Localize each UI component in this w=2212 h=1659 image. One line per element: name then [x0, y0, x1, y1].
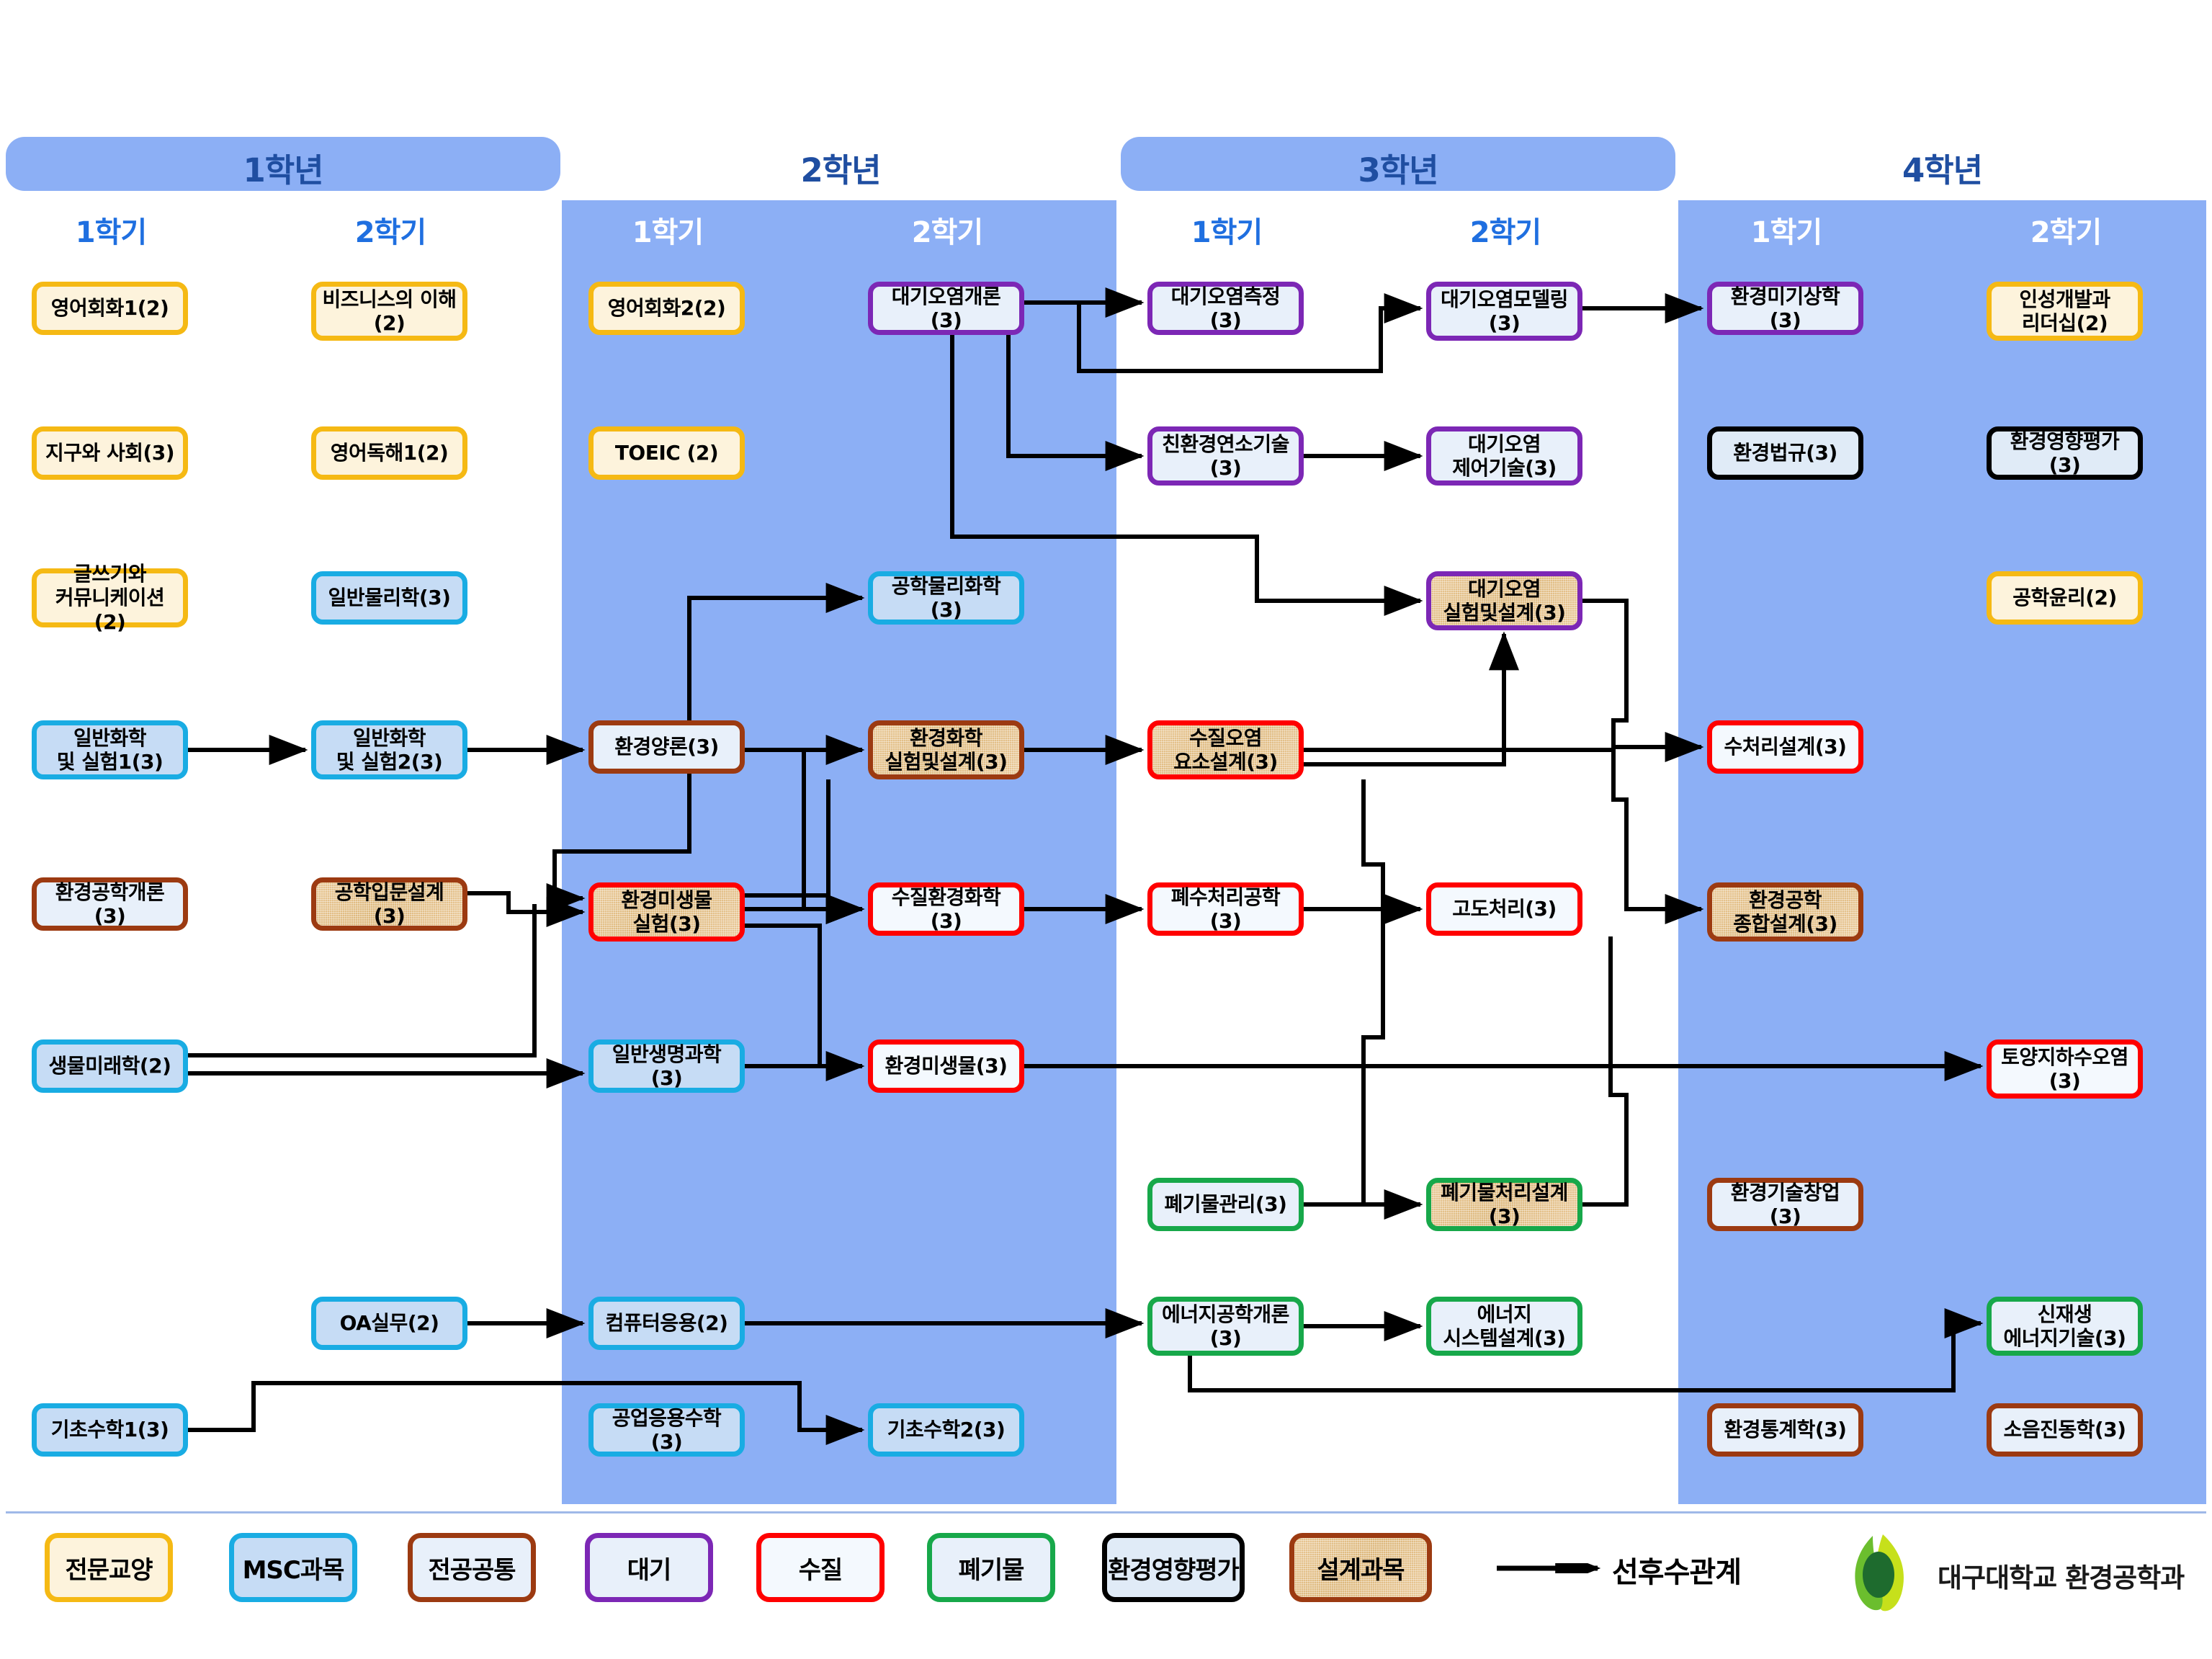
- legend-arrow-label: 선후수관계: [1612, 1549, 1741, 1591]
- course-box-water-pollut-design[interactable]: 수질오염요소설계(3): [1147, 720, 1304, 779]
- course-box-env-capstone-design[interactable]: 환경공학종합설계(3): [1707, 882, 1863, 942]
- course-box-water-treat-design[interactable]: 수처리설계(3): [1707, 720, 1863, 774]
- university-logo-icon: [1838, 1533, 1925, 1612]
- course-box-eng-phys-chem[interactable]: 공학물리화학(3): [868, 571, 1024, 625]
- year-label-3: 3학년: [1121, 144, 1675, 191]
- course-box-env-law[interactable]: 환경법규(3): [1707, 426, 1863, 480]
- course-box-basic-math-1[interactable]: 기초수학1(3): [32, 1403, 188, 1457]
- semester-label-y2s2: 2학기: [868, 209, 1026, 251]
- course-box-env-impact-assess[interactable]: 환경영향평가(3): [1987, 426, 2143, 480]
- course-box-earth-society[interactable]: 지구와 사회(3): [32, 426, 188, 480]
- course-box-soil-groundwater[interactable]: 토양지하수오염(3): [1987, 1039, 2143, 1099]
- course-box-env-chem-lab-design[interactable]: 환경화학실험및설계(3): [868, 720, 1024, 779]
- legend-item-7: 설계과목: [1289, 1533, 1432, 1602]
- legend: 전문교양MSC과목전공공통대기수질폐기물환경영향평가설계과목 선후수관계 대구대…: [0, 1519, 2212, 1655]
- course-box-env-tech-startup[interactable]: 환경기술창업(3): [1707, 1178, 1863, 1231]
- course-box-waste-treat-design[interactable]: 폐기물처리설계(3): [1426, 1178, 1582, 1231]
- semester-label-y4s1: 1학기: [1707, 209, 1866, 251]
- course-box-eng-reading-1[interactable]: 영어독해1(2): [311, 426, 467, 480]
- curriculum-flowchart-page: 1학년 2학년 3학년 4학년 1학기 2학기 1학기 2학기 1학기 2학기 …: [0, 0, 2212, 1659]
- legend-item-0: 전문교양: [45, 1533, 173, 1602]
- course-box-eng-conv-2[interactable]: 영어회화2(2): [588, 282, 745, 335]
- year-label-4: 4학년: [1678, 144, 2206, 191]
- year-label-1: 1학년: [6, 144, 560, 191]
- semester-label-y1s1: 1학기: [32, 209, 190, 251]
- course-box-eng-intro-design[interactable]: 공학입문설계(3): [311, 877, 467, 931]
- course-box-air-pollution-meas[interactable]: 대기오염측정(3): [1147, 282, 1304, 335]
- course-box-waste-management[interactable]: 폐기물관리(3): [1147, 1178, 1304, 1231]
- course-box-eng-ethics[interactable]: 공학윤리(2): [1987, 571, 2143, 625]
- course-box-air-pollut-control[interactable]: 대기오염제어기술(3): [1426, 426, 1582, 486]
- course-box-renewable-energy[interactable]: 신재생에너지기술(3): [1987, 1297, 2143, 1356]
- course-box-toeic[interactable]: TOEIC (2): [588, 426, 745, 480]
- legend-item-1: MSC과목: [229, 1533, 357, 1602]
- legend-item-4: 수질: [756, 1533, 885, 1602]
- course-box-eng-conv-1[interactable]: 영어회화1(2): [32, 282, 188, 335]
- course-box-air-pollution-intro[interactable]: 대기오염개론(3): [868, 282, 1024, 335]
- course-box-env-quality-theory[interactable]: 환경양론(3): [588, 720, 745, 774]
- course-box-gen-physics[interactable]: 일반물리학(3): [311, 571, 467, 625]
- course-box-env-microbio-lab[interactable]: 환경미생물실험(3): [588, 882, 745, 942]
- course-box-basic-math-2[interactable]: 기초수학2(3): [868, 1403, 1024, 1457]
- course-box-env-statistics[interactable]: 환경통계학(3): [1707, 1403, 1863, 1457]
- legend-item-2: 전공공통: [408, 1533, 536, 1602]
- course-box-energy-system-design[interactable]: 에너지시스템설계(3): [1426, 1297, 1582, 1356]
- legend-item-5: 폐기물: [927, 1533, 1055, 1602]
- legend-item-6: 환경영향평가: [1102, 1533, 1245, 1602]
- course-box-oa-practice[interactable]: OA실무(2): [311, 1297, 467, 1350]
- course-box-eco-combustion[interactable]: 친환경연소기술(3): [1147, 426, 1304, 486]
- legend-divider: [6, 1511, 2206, 1513]
- course-box-gen-chem-1[interactable]: 일반화학및 실험1(3): [32, 720, 188, 779]
- semester-label-y3s1: 1학기: [1147, 209, 1306, 251]
- university-logo-text: 대구대학교 환경공학과: [1938, 1556, 2184, 1595]
- course-box-personality-leader[interactable]: 인성개발과리더십(2): [1987, 282, 2143, 341]
- course-box-gen-chem-2[interactable]: 일반화학및 실험2(3): [311, 720, 467, 779]
- course-box-air-pollution-model[interactable]: 대기오염모델링(3): [1426, 282, 1582, 341]
- course-box-noise-vibration[interactable]: 소음진동학(3): [1987, 1403, 2143, 1457]
- semester-label-y4s2: 2학기: [1987, 209, 2145, 251]
- course-box-wastewater-eng[interactable]: 폐수처리공학(3): [1147, 882, 1304, 936]
- semester-label-y1s2: 2학기: [311, 209, 470, 251]
- course-box-air-pollut-lab-design[interactable]: 대기오염실험및설계(3): [1426, 571, 1582, 630]
- legend-item-3: 대기: [585, 1533, 713, 1602]
- course-box-advanced-treatment[interactable]: 고도처리(3): [1426, 882, 1582, 936]
- course-box-water-env-chem[interactable]: 수질환경화학(3): [868, 882, 1024, 936]
- course-box-ind-applied-math[interactable]: 공업응용수학(3): [588, 1403, 745, 1457]
- course-box-bio-future[interactable]: 생물미래학(2): [32, 1039, 188, 1093]
- course-box-energy-eng-intro[interactable]: 에너지공학개론(3): [1147, 1297, 1304, 1356]
- course-box-business-understand[interactable]: 비즈니스의 이해(2): [311, 282, 467, 341]
- prerequisite-arrow-icon: [1497, 1563, 1605, 1573]
- year-label-2: 2학년: [563, 144, 1118, 191]
- course-box-computer-app[interactable]: 컴퓨터응용(2): [588, 1297, 745, 1350]
- course-box-env-microbiology[interactable]: 환경미생물(3): [868, 1039, 1024, 1093]
- course-box-writing-comm[interactable]: 글쓰기와커뮤니케이션(2): [32, 568, 188, 627]
- semester-label-y3s2: 2학기: [1426, 209, 1585, 251]
- course-box-env-micromet[interactable]: 환경미기상학(3): [1707, 282, 1863, 335]
- semester-label-y2s1: 1학기: [588, 209, 747, 251]
- course-box-gen-life-science[interactable]: 일반생명과학(3): [588, 1039, 745, 1093]
- course-box-env-eng-intro[interactable]: 환경공학개론(3): [32, 877, 188, 931]
